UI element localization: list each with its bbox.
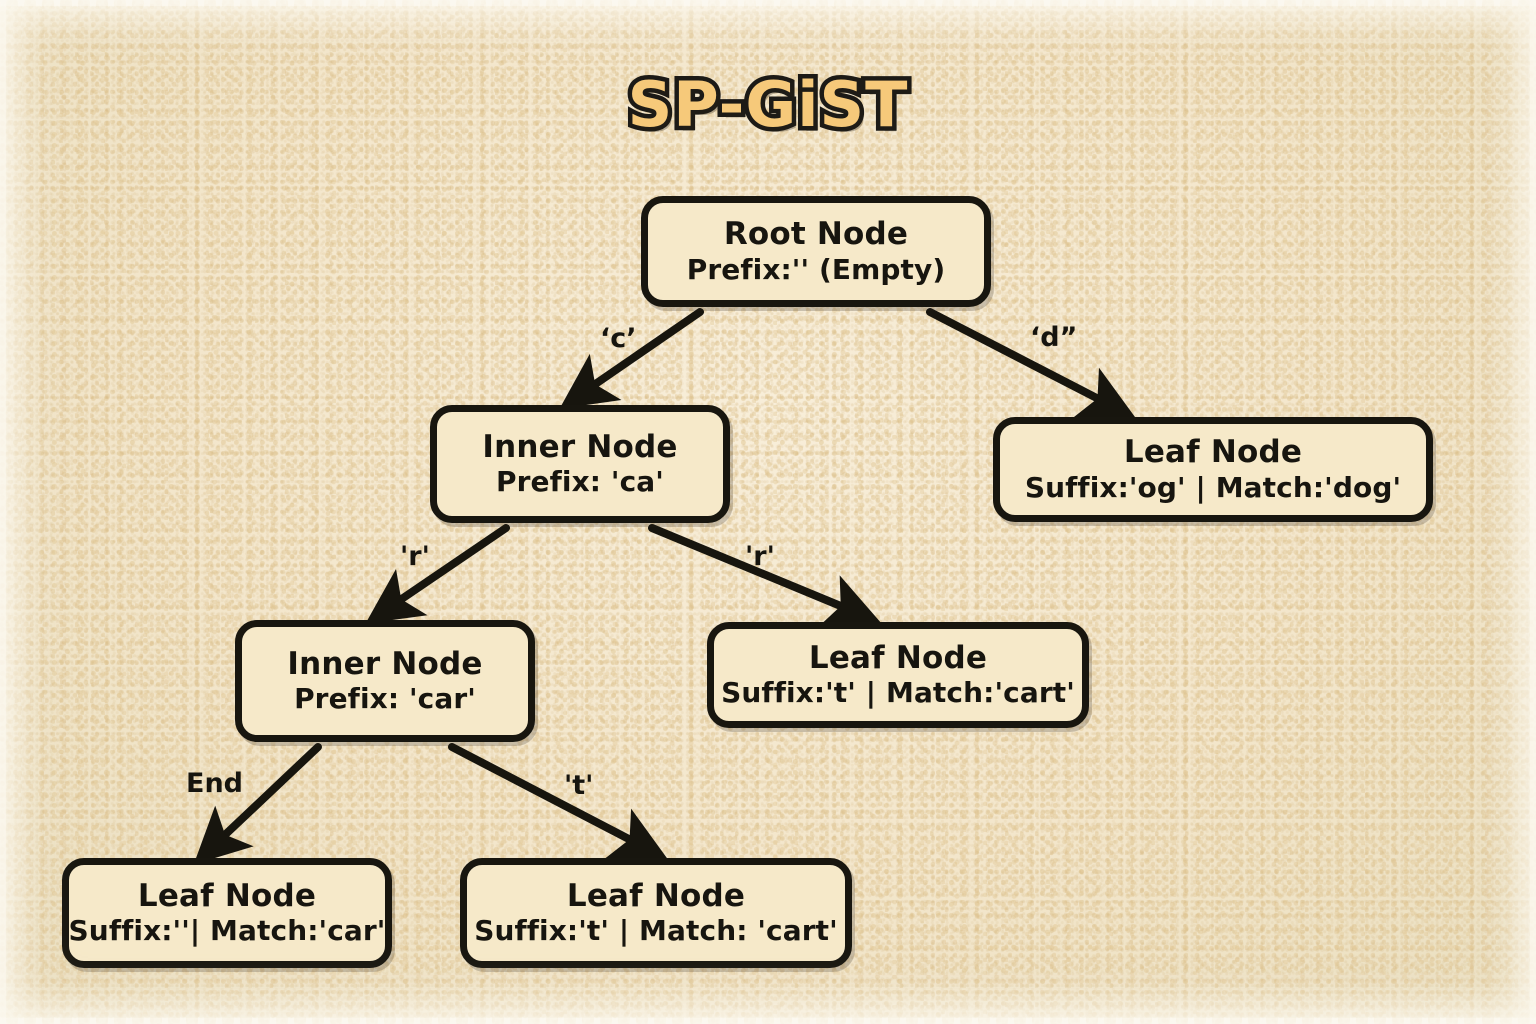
node-leaf-cart-middle[interactable]: Leaf Node Suffix:'t' | Match:'cart' — [707, 622, 1089, 728]
node-leaf-car-subtitle: Suffix:''| Match:'car' — [69, 915, 386, 946]
node-inner-car-subtitle: Prefix: 'car' — [294, 683, 476, 714]
node-leaf-dog-subtitle: Suffix:'og' | Match:'dog' — [1025, 472, 1401, 503]
edge-label-d: ‘d” — [1030, 322, 1077, 353]
node-root-title: Root Node — [724, 218, 908, 251]
node-inner-car-title: Inner Node — [287, 648, 482, 681]
edge-label-end: End — [186, 768, 243, 799]
node-leaf-cart-middle-subtitle: Suffix:'t' | Match:'cart' — [721, 677, 1075, 708]
edge-root-to-inner-ca — [578, 312, 700, 396]
node-leaf-car-title: Leaf Node — [138, 880, 316, 913]
node-leaf-cart-bottom[interactable]: Leaf Node Suffix:'t' | Match: 'cart' — [460, 858, 852, 968]
edge-root-to-leaf-dog — [930, 312, 1116, 408]
node-inner-ca[interactable]: Inner Node Prefix: 'ca' — [430, 405, 730, 523]
edge-label-r-left: 'r' — [400, 541, 430, 572]
edge-label-c: ‘c’ — [600, 323, 637, 354]
edge-inner-car-to-leaf-cart — [452, 747, 648, 849]
diagram-canvas: SP-GiST Root Node Prefix:'' (Empty) Inne… — [0, 0, 1536, 1024]
node-leaf-cart-bottom-subtitle: Suffix:'t' | Match: 'cart' — [474, 915, 838, 946]
edge-label-t: 't' — [564, 770, 593, 801]
node-leaf-car[interactable]: Leaf Node Suffix:''| Match:'car' — [62, 858, 392, 968]
node-root[interactable]: Root Node Prefix:'' (Empty) — [641, 196, 991, 307]
node-inner-car[interactable]: Inner Node Prefix: 'car' — [235, 620, 535, 742]
node-inner-ca-subtitle: Prefix: 'ca' — [496, 466, 664, 497]
node-root-subtitle: Prefix:'' (Empty) — [687, 254, 946, 285]
edge-label-r-right: 'r' — [745, 541, 775, 572]
node-leaf-cart-middle-title: Leaf Node — [809, 642, 987, 675]
node-inner-ca-title: Inner Node — [482, 431, 677, 464]
node-leaf-dog-title: Leaf Node — [1124, 436, 1302, 469]
node-leaf-dog[interactable]: Leaf Node Suffix:'og' | Match:'dog' — [993, 417, 1433, 522]
node-leaf-cart-bottom-title: Leaf Node — [567, 880, 745, 913]
